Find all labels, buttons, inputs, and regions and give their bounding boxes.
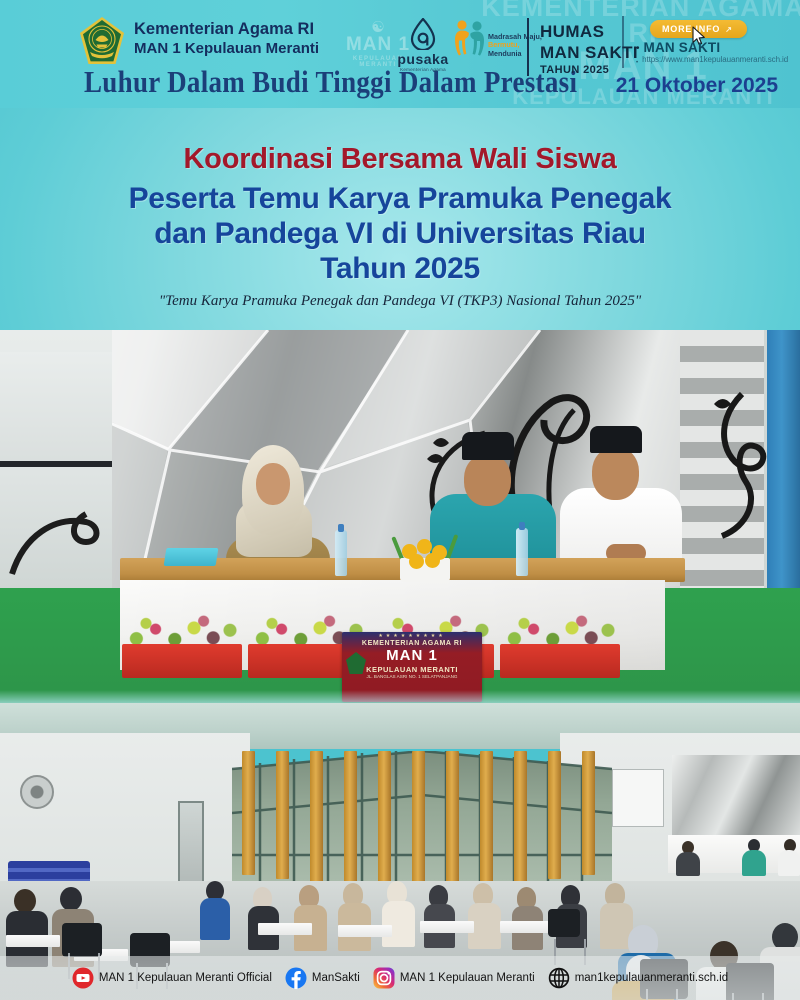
blue-paper-stack	[164, 548, 219, 566]
hall-geometric-wall	[672, 755, 800, 840]
sunflower-4	[409, 554, 424, 569]
social-item-instagram[interactable]: MAN 1 Kepulauan Meranti	[373, 967, 535, 989]
curtain-2	[276, 751, 289, 879]
curtain-1	[242, 751, 255, 875]
pusaka-logo: pusaka Kementerian Agama	[392, 18, 454, 72]
social-label-instagram: MAN 1 Kepulauan Meranti	[400, 972, 535, 984]
bullet-small-icon: •	[636, 55, 638, 66]
pusaka-sub: Kementerian Agama	[392, 67, 454, 72]
water-bottle-right	[516, 528, 528, 576]
title-line-3: dan Pandega VI di Universitas Riau	[0, 217, 800, 251]
organization-name: Kementerian Agama RI MAN 1 Kepulauan Mer…	[134, 19, 319, 58]
wall-fan-icon	[20, 775, 54, 809]
instagram-icon	[373, 967, 395, 989]
speaker-center-songkok-icon	[462, 432, 514, 460]
speaker-center-face	[464, 454, 511, 506]
sunflower-centerpiece	[392, 530, 458, 580]
publication-date: 21 Oktober 2025	[616, 74, 778, 98]
speaker-right-songkok-icon	[590, 426, 642, 453]
facebook-icon	[285, 967, 307, 989]
social-item-website[interactable]: man1kepulauanmeranti.sch.id	[548, 967, 728, 989]
wall-ornament-left	[8, 480, 108, 580]
title-line-4: Tahun 2025	[0, 252, 800, 286]
planter-box-1	[122, 644, 242, 678]
header-divider-secondary	[622, 16, 624, 68]
desk-7	[500, 921, 554, 933]
desk-1	[6, 935, 60, 947]
photo-stage-panel: ★★★★★★★★★ KEMENTERIAN AGAMA RI MAN 1 KEP…	[0, 330, 800, 705]
social-item-facebook[interactable]: ManSakti	[285, 967, 360, 989]
poster-root: KEMENTERIAN AGAMA RI MAN 1 KEPULAUAN MER…	[0, 0, 800, 1000]
youtube-icon	[72, 967, 94, 989]
chair-3	[548, 909, 580, 937]
desk-4	[258, 923, 312, 935]
planter-box-4	[500, 644, 620, 678]
social-label-youtube: MAN 1 Kepulauan Meranti Official	[99, 972, 272, 984]
social-label-facebook: ManSakti	[312, 972, 360, 984]
madrasah-tagline: Madrasah Maju, Bermutu, Mendunia	[488, 33, 542, 58]
event-subtitle: "Temu Karya Pramuka Penegak dan Pandega …	[0, 292, 800, 312]
man1-stage-banner: ★★★★★★★★★ KEMENTERIAN AGAMA RI MAN 1 KEP…	[342, 632, 482, 702]
pusaka-label: pusaka	[392, 51, 454, 67]
sunflower-5	[425, 553, 440, 568]
title-block: Koordinasi Bersama Wali Siswa Peserta Te…	[0, 110, 800, 335]
link-row-primary[interactable]: • MAN SAKTI	[636, 40, 800, 55]
website-globe-icon	[548, 967, 570, 989]
centerpiece-leaf-right	[446, 534, 459, 560]
pusaka-drop-icon	[392, 18, 454, 50]
projector-screen	[0, 352, 112, 467]
whiteboard	[612, 769, 664, 827]
title-line-2: Peserta Temu Karya Pramuka Penegak	[0, 182, 800, 216]
sunflower-2	[417, 539, 432, 554]
desk-5	[338, 925, 392, 937]
curtain-11	[582, 751, 595, 875]
banner-line-4: JL. BANGLAS ASRI NO. 1 SELATPANJANG	[342, 674, 482, 680]
external-link-icon: ↗	[725, 25, 733, 34]
social-footer-bar: MAN 1 Kepulauan Meranti Official ManSakt…	[0, 956, 800, 1000]
org-line-2: MAN 1 Kepulauan Meranti	[134, 40, 319, 59]
madrasah-figures-icon	[452, 18, 488, 58]
speaker-female	[222, 445, 342, 575]
speaker-female-face	[256, 463, 290, 505]
link-secondary-url: https://www.man1kepulauanmeranti.sch.id	[642, 55, 788, 64]
desk-6	[420, 921, 474, 933]
madrasah-line-3: Mendunia	[488, 50, 542, 58]
banner-stars: ★★★★★★★★★	[342, 632, 482, 639]
title-line-1: Koordinasi Bersama Wali Siswa	[0, 143, 800, 176]
social-item-youtube[interactable]: MAN 1 Kepulauan Meranti Official	[72, 967, 272, 989]
bullet-icon: •	[636, 40, 640, 54]
water-bottle-left	[335, 530, 347, 576]
header-bar: KEMENTERIAN AGAMA RI MAN 1 KEPULAUAN MER…	[0, 0, 800, 108]
wall-ornament-scroll	[700, 390, 780, 540]
header-divider	[527, 18, 529, 76]
chair-1	[62, 923, 102, 957]
curtain-10	[548, 751, 561, 879]
speaker-right-male	[560, 426, 682, 576]
org-line-1: Kementerian Agama RI	[134, 19, 319, 40]
speaker-right-face	[592, 447, 639, 500]
kemenag-logo-icon	[78, 16, 126, 68]
header-links: • MAN SAKTI • https://www.man1kepulauanm…	[636, 40, 800, 66]
social-label-website: man1kepulauanmeranti.sch.id	[575, 972, 728, 984]
link-row-secondary[interactable]: • https://www.man1kepulauanmeranti.sch.i…	[636, 55, 800, 66]
link-primary-label: MAN SAKTI	[644, 40, 721, 55]
